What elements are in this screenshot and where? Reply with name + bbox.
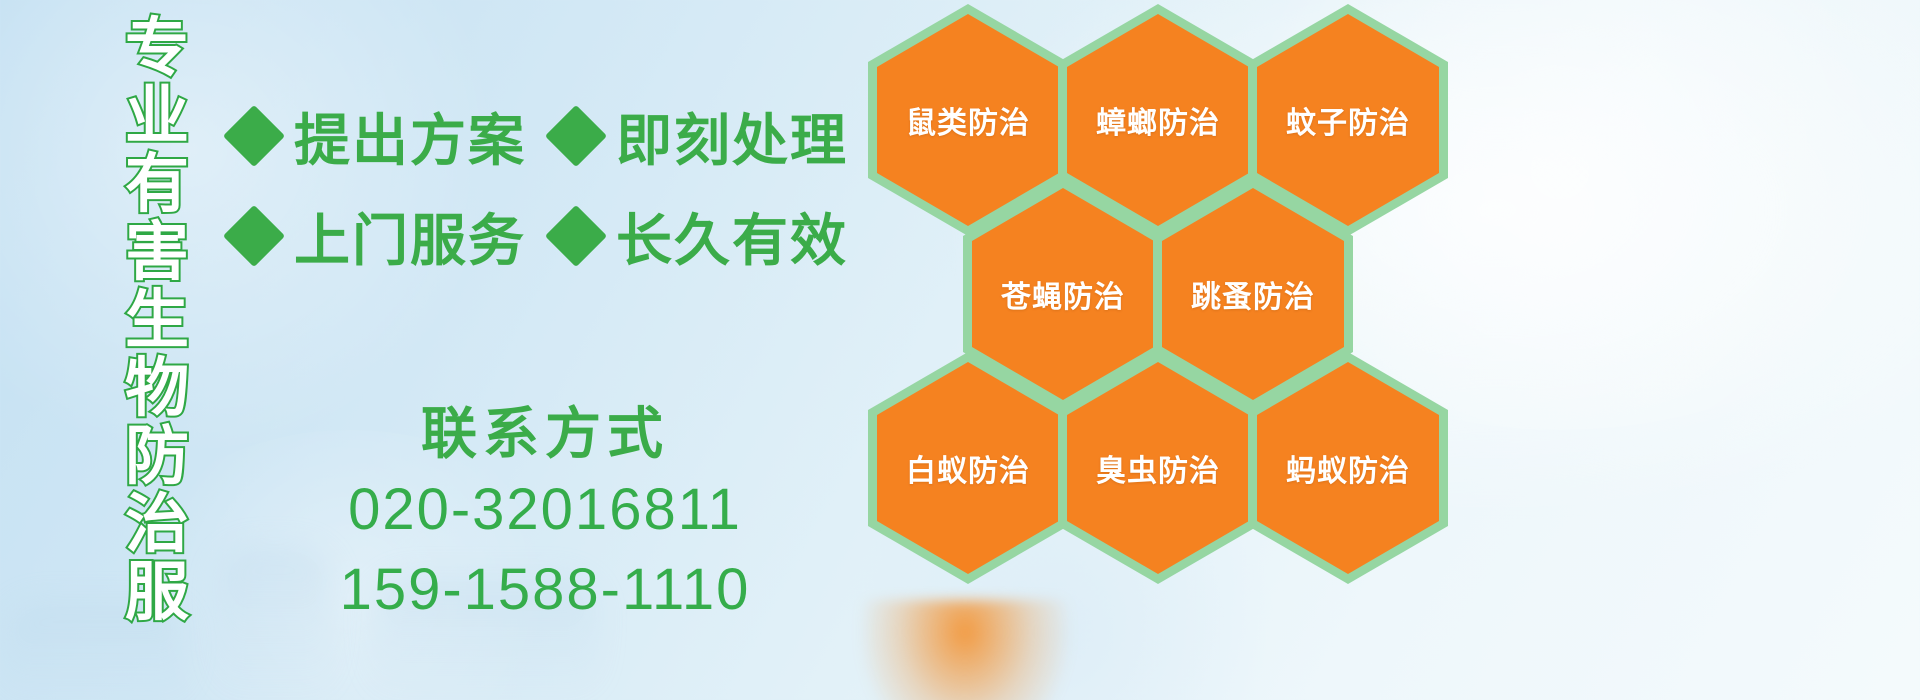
service-honeycomb: 鼠类防治 蟑螂防治 蚊子防治 苍蝇防治 跳蚤防治 白蚁防治 臭虫防治 蚂蚁防治 xyxy=(862,0,1482,580)
feature-list: 提出方案 即刻处理 上门服务 长久有效 xyxy=(232,86,872,286)
feature-label: 提出方案 xyxy=(294,96,526,177)
vertical-headline-char: 业 xyxy=(125,82,189,150)
feature-row: 提出方案 即刻处理 xyxy=(232,86,872,186)
vertical-headline-char: 专 xyxy=(125,14,189,82)
feature-label: 即刻处理 xyxy=(616,96,848,177)
service-label: 蚂蚁防治 xyxy=(1248,352,1448,584)
vertical-headline-char: 害 xyxy=(125,218,189,286)
diamond-icon xyxy=(223,205,285,267)
background-orange-glow xyxy=(860,600,1070,700)
diamond-icon xyxy=(223,105,285,167)
diamond-icon xyxy=(545,205,607,267)
service-label: 白蚁防治 xyxy=(868,352,1068,584)
service-hex-ant[interactable]: 蚂蚁防治 xyxy=(1248,352,1448,584)
phone-number-mobile[interactable]: 159-1588-1110 xyxy=(310,550,780,630)
feature-label: 上门服务 xyxy=(294,196,526,277)
vertical-headline: 专 业 有 害 生 物 防 治 服 xyxy=(105,14,209,574)
feature-row: 上门服务 长久有效 xyxy=(232,186,872,286)
feature-label: 长久有效 xyxy=(616,196,848,277)
service-hex-bedbug[interactable]: 臭虫防治 xyxy=(1058,352,1258,584)
service-label: 臭虫防治 xyxy=(1058,352,1258,584)
vertical-headline-char: 物 xyxy=(125,354,189,422)
phone-number-landline[interactable]: 020-32016811 xyxy=(310,470,780,550)
contact-block: 联系方式 020-32016811 159-1588-1110 xyxy=(310,398,780,630)
vertical-headline-char: 服 xyxy=(125,558,189,626)
diamond-icon xyxy=(545,105,607,167)
contact-title: 联系方式 xyxy=(310,398,780,470)
service-hex-termite[interactable]: 白蚁防治 xyxy=(868,352,1068,584)
vertical-headline-char: 防 xyxy=(125,422,189,490)
vertical-headline-char: 生 xyxy=(125,286,189,354)
vertical-headline-char: 治 xyxy=(125,490,189,558)
vertical-headline-char: 有 xyxy=(125,150,189,218)
